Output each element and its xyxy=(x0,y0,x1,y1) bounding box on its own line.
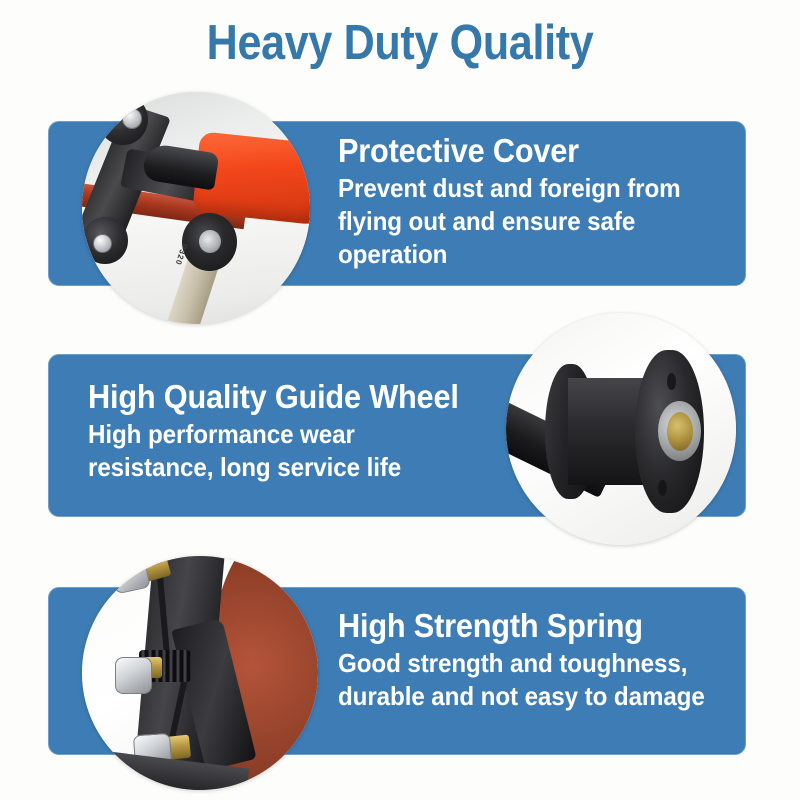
feature-heading-1: Protective Cover xyxy=(338,131,710,171)
feature-body-1-line-1: Prevent dust and foreign from xyxy=(338,172,710,205)
photo-inner-2 xyxy=(506,313,736,545)
photo1-tension-disc xyxy=(182,213,237,271)
feature-image-guide-wheel xyxy=(506,313,736,545)
feature-body-1-line-2: flying out and ensure safe xyxy=(338,205,710,238)
feature-heading-3: High Strength Spring xyxy=(338,606,729,646)
feature-image-high-strength-spring xyxy=(82,556,318,790)
infographic-page: Heavy Duty Quality P320 Protective Cover… xyxy=(0,0,800,800)
photo-inner-1: P320 xyxy=(82,92,310,324)
feature-text-guide-wheel: High Quality Guide Wheel High performanc… xyxy=(88,377,460,484)
feature-body-2: High performance wear resistance, long s… xyxy=(88,418,460,484)
photo-inner-3 xyxy=(82,556,318,790)
feature-body-3-line-2: durable and not easy to damage xyxy=(338,680,729,713)
photo1-bolt-upper xyxy=(122,108,142,129)
feature-heading-2: High Quality Guide Wheel xyxy=(88,377,460,417)
feature-body-1: Prevent dust and foreign from flying out… xyxy=(338,172,710,271)
feature-image-protective-cover: P320 xyxy=(82,92,310,324)
feature-text-protective-cover: Protective Cover Prevent dust and foreig… xyxy=(338,131,710,271)
feature-text-high-strength-spring: High Strength Spring Good strength and t… xyxy=(338,606,729,713)
page-title: Heavy Duty Quality xyxy=(48,14,752,72)
feature-body-1-line-3: operation xyxy=(338,238,710,271)
photo2-flange-hole-top xyxy=(667,373,676,389)
feature-body-3: Good strength and toughness, durable and… xyxy=(338,647,729,713)
feature-body-2-line-1: High performance wear xyxy=(88,418,460,451)
photo3-chrome-nut-middle xyxy=(115,657,152,694)
feature-body-3-line-1: Good strength and toughness, xyxy=(338,647,729,680)
feature-body-2-line-2: resistance, long service life xyxy=(88,451,460,484)
